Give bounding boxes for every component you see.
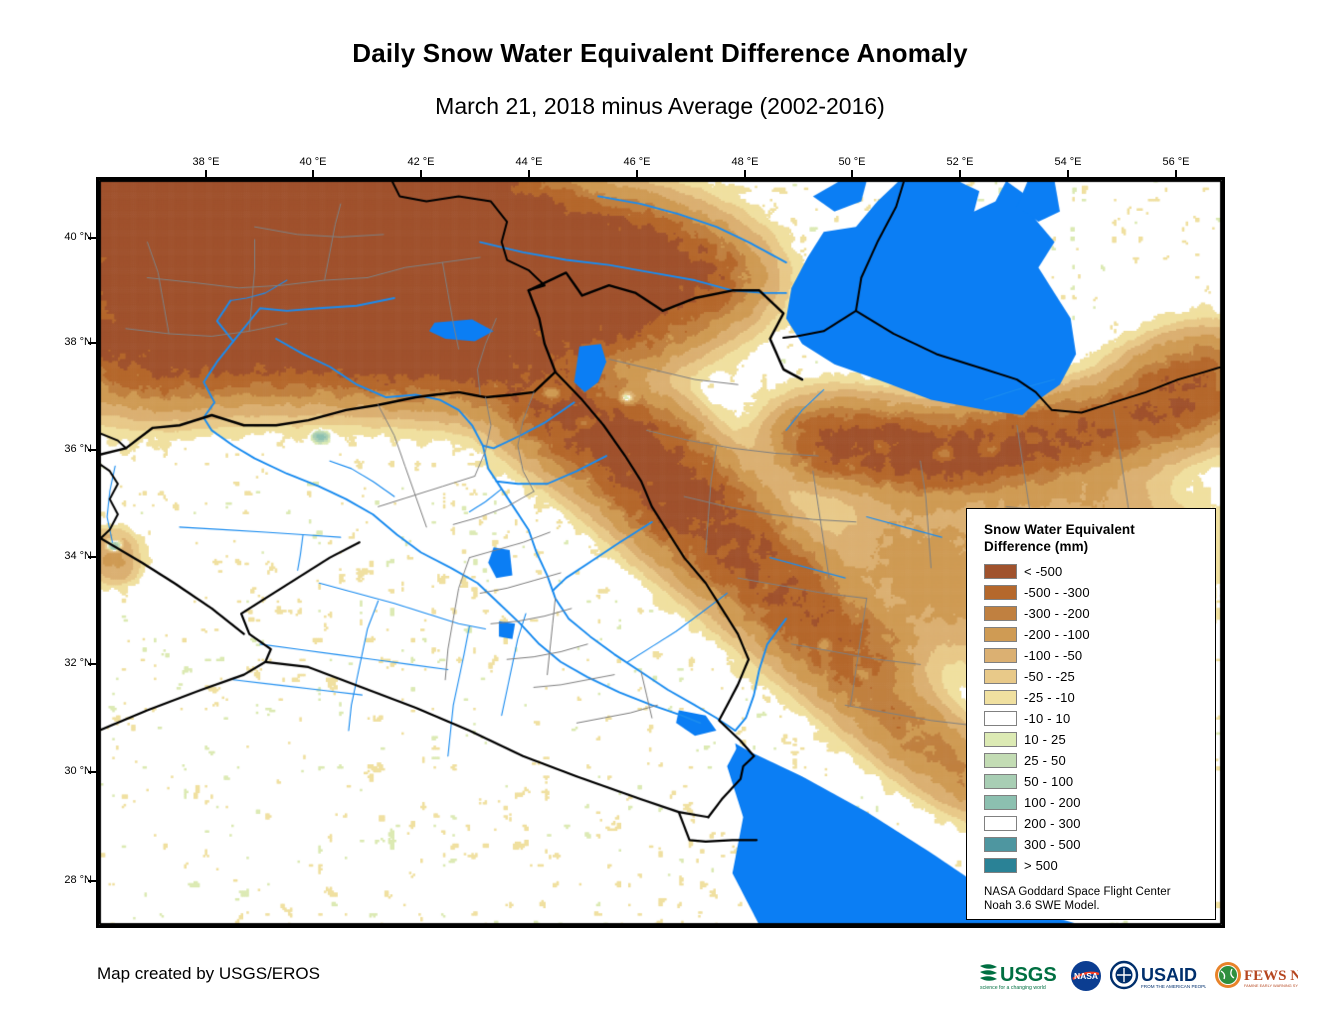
legend-swatch xyxy=(984,585,1017,600)
legend-swatch xyxy=(984,690,1017,705)
svg-text:FEWS NET: FEWS NET xyxy=(1244,968,1298,984)
legend-row: 50 - 100 xyxy=(984,771,1215,792)
agency-logo-strip: USGSscience for a changing worldNASAUSAI… xyxy=(978,956,1298,996)
legend-label: -500 - -300 xyxy=(1024,585,1090,600)
legend-note-line2: Noah 3.6 SWE Model. xyxy=(984,899,1215,913)
legend-swatch xyxy=(984,795,1017,810)
lat-tick-label: 30 °N xyxy=(36,765,92,777)
svg-text:science for a changing world: science for a changing world xyxy=(980,985,1046,991)
svg-text:USGS: USGS xyxy=(1000,964,1057,986)
svg-text:FROM THE AMERICAN PEOPLE: FROM THE AMERICAN PEOPLE xyxy=(1141,984,1206,989)
lat-tick-label: 32 °N xyxy=(36,657,92,669)
lon-tick-label: 44 °E xyxy=(499,156,559,168)
legend-row: -100 - -50 xyxy=(984,645,1215,666)
legend-row: 10 - 25 xyxy=(984,729,1215,750)
legend-swatch xyxy=(984,606,1017,621)
legend-row: -500 - -300 xyxy=(984,582,1215,603)
legend-label: -25 - -10 xyxy=(1024,690,1075,705)
lon-tick-label: 52 °E xyxy=(930,156,990,168)
lon-tick-label: 50 °E xyxy=(822,156,882,168)
legend-row: < -500 xyxy=(984,561,1215,582)
legend-swatch xyxy=(984,627,1017,642)
legend-title-line2: Difference (mm) xyxy=(984,539,1215,556)
legend-label: 100 - 200 xyxy=(1024,795,1081,810)
map-credit: Map created by USGS/EROS xyxy=(97,964,320,984)
legend-row: -50 - -25 xyxy=(984,666,1215,687)
lon-tick-label: 56 °E xyxy=(1146,156,1206,168)
lat-tick-label: 34 °N xyxy=(36,550,92,562)
legend-row: > 500 xyxy=(984,855,1215,876)
legend-label: 50 - 100 xyxy=(1024,774,1073,789)
legend-swatch xyxy=(984,858,1017,873)
legend-swatch xyxy=(984,816,1017,831)
legend-row: -300 - -200 xyxy=(984,603,1215,624)
svg-text:USAID: USAID xyxy=(1141,965,1197,985)
legend-label: 10 - 25 xyxy=(1024,732,1066,747)
lon-tick-label: 54 °E xyxy=(1038,156,1098,168)
lon-tick-label: 46 °E xyxy=(607,156,667,168)
legend-row: -10 - 10 xyxy=(984,708,1215,729)
legend-swatch xyxy=(984,732,1017,747)
map-legend: Snow Water Equivalent Difference (mm) < … xyxy=(966,508,1216,920)
legend-swatch xyxy=(984,564,1017,579)
lon-tick-label: 38 °E xyxy=(176,156,236,168)
legend-row: 25 - 50 xyxy=(984,750,1215,771)
page-subtitle: March 21, 2018 minus Average (2002-2016) xyxy=(0,93,1320,120)
lat-tick-label: 36 °N xyxy=(36,443,92,455)
usgs-logo: USGSscience for a changing world xyxy=(978,959,1062,993)
legend-label: 200 - 300 xyxy=(1024,816,1081,831)
legend-swatch xyxy=(984,837,1017,852)
lat-tick-label: 38 °N xyxy=(36,336,92,348)
svg-text:NASA: NASA xyxy=(1074,971,1098,981)
page-title: Daily Snow Water Equivalent Difference A… xyxy=(0,38,1320,69)
legend-row: 100 - 200 xyxy=(984,792,1215,813)
lat-tick-label: 28 °N xyxy=(36,874,92,886)
legend-title-line1: Snow Water Equivalent xyxy=(984,522,1215,539)
legend-swatch xyxy=(984,669,1017,684)
legend-row: 200 - 300 xyxy=(984,813,1215,834)
fewsnet-logo: FEWS NETFAMINE EARLY WARNING SYSTEMS NET… xyxy=(1214,959,1298,993)
legend-row: -25 - -10 xyxy=(984,687,1215,708)
svg-text:FAMINE EARLY WARNING SYSTEMS N: FAMINE EARLY WARNING SYSTEMS NETWORK xyxy=(1244,983,1298,988)
legend-label: < -500 xyxy=(1024,564,1062,579)
lon-tick-label: 40 °E xyxy=(283,156,343,168)
legend-row: 300 - 500 xyxy=(984,834,1215,855)
legend-swatch xyxy=(984,711,1017,726)
legend-label: -10 - 10 xyxy=(1024,711,1070,726)
legend-source-note: NASA Goddard Space Flight Center Noah 3.… xyxy=(984,885,1215,913)
usaid-logo: USAIDFROM THE AMERICAN PEOPLE xyxy=(1110,959,1206,993)
legend-label: -50 - -25 xyxy=(1024,669,1075,684)
legend-row: -200 - -100 xyxy=(984,624,1215,645)
legend-label: 300 - 500 xyxy=(1024,837,1081,852)
legend-title: Snow Water Equivalent Difference (mm) xyxy=(984,522,1215,555)
legend-swatch xyxy=(984,753,1017,768)
lon-tick-label: 48 °E xyxy=(715,156,775,168)
legend-label: > 500 xyxy=(1024,858,1058,873)
legend-swatch xyxy=(984,648,1017,663)
lon-tick-label: 42 °E xyxy=(391,156,451,168)
legend-label: -200 - -100 xyxy=(1024,627,1090,642)
legend-swatch xyxy=(984,774,1017,789)
legend-items: < -500-500 - -300-300 - -200-200 - -100-… xyxy=(984,561,1215,876)
nasa-logo: NASA xyxy=(1070,959,1102,993)
legend-label: 25 - 50 xyxy=(1024,753,1066,768)
legend-note-line1: NASA Goddard Space Flight Center xyxy=(984,885,1215,899)
legend-label: -100 - -50 xyxy=(1024,648,1082,663)
legend-label: -300 - -200 xyxy=(1024,606,1090,621)
lat-tick-label: 40 °N xyxy=(36,231,92,243)
